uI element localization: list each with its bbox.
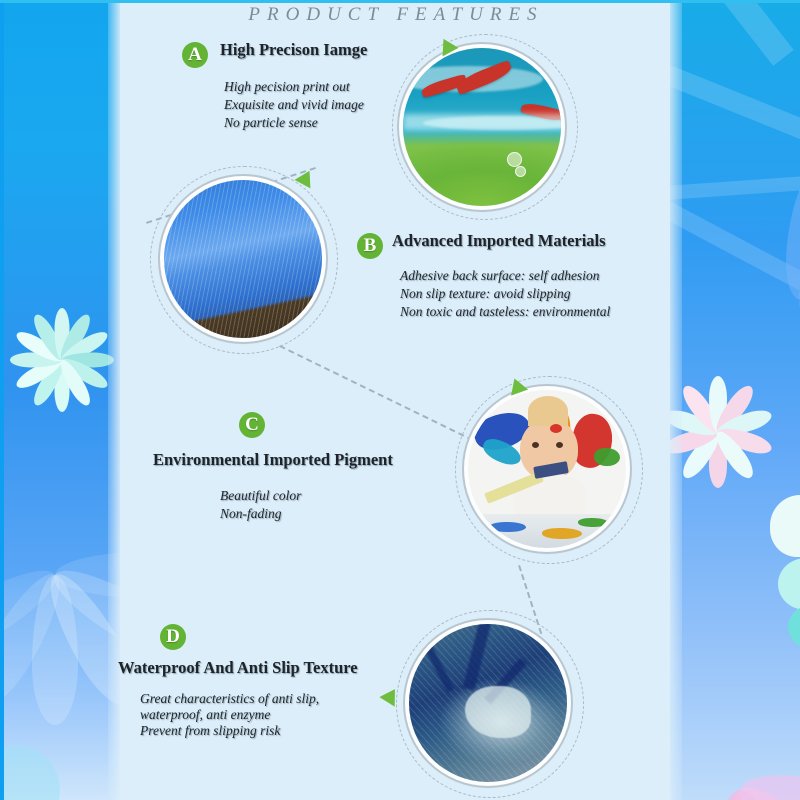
waterline bbox=[403, 114, 561, 130]
feature-badge-a: A bbox=[182, 42, 208, 68]
feature-heading-b: Advanced Imported Materials bbox=[392, 231, 606, 251]
water-droplet bbox=[465, 686, 531, 738]
right-pod-3 bbox=[788, 605, 800, 649]
feature-line-c-2: Non-fading bbox=[220, 505, 282, 522]
right-pod-2 bbox=[778, 558, 800, 610]
feature-heading-d: Waterproof And Anti Slip Texture bbox=[118, 658, 358, 678]
left-blob-circle bbox=[0, 745, 60, 800]
feature-badge-b: B bbox=[357, 233, 383, 259]
feature-badge-d: D bbox=[160, 624, 186, 650]
feature-line-a-3: No particle sense bbox=[224, 114, 318, 131]
feature-badge-c: C bbox=[239, 412, 265, 438]
feature-line-c-1: Beautiful color bbox=[220, 487, 301, 504]
floor-paint-1 bbox=[490, 522, 526, 532]
connector-b-c bbox=[279, 345, 473, 441]
blue-fabric-texture-photo bbox=[164, 180, 322, 338]
left-decorative-border bbox=[0, 0, 120, 800]
right-band-2 bbox=[670, 46, 800, 154]
texture-streak-1 bbox=[463, 624, 492, 690]
feature-line-b-3: Non toxic and tasteless: environmental bbox=[400, 303, 610, 320]
baby-eye-left bbox=[532, 442, 539, 448]
feature-line-a-2: Exquisite and vivid image bbox=[224, 96, 364, 113]
product-features-infographic: PRODUCT FEATURES A High Precison Iamge H… bbox=[0, 0, 800, 800]
feature-heading-c: Environmental Imported Pigment bbox=[153, 450, 393, 470]
paint-splatter-green bbox=[594, 448, 620, 466]
koi-fish-on-lily-pad-photo bbox=[403, 48, 561, 206]
baby-with-paintbrush-photo bbox=[468, 390, 626, 548]
baby-eye-right bbox=[556, 442, 563, 448]
right-decorative-border bbox=[670, 0, 800, 800]
paint-dot-forehead bbox=[550, 424, 562, 433]
feature-line-d-2: waterproof, anti enzyme bbox=[140, 706, 270, 723]
feature-line-b-1: Adhesive back surface: self adhesion bbox=[400, 267, 599, 284]
left-edge-line bbox=[0, 0, 4, 800]
feature-heading-a: High Precison Iamge bbox=[220, 40, 367, 60]
floor-paint-3 bbox=[578, 518, 608, 527]
baby-hair bbox=[528, 396, 568, 426]
right-band-1 bbox=[670, 0, 794, 66]
features-panel: PRODUCT FEATURES A High Precison Iamge H… bbox=[120, 0, 672, 800]
water-drop-2 bbox=[515, 166, 526, 177]
feature-line-d-3: Prevent from slipping risk bbox=[140, 722, 280, 739]
feature-line-b-2: Non slip texture: avoid slipping bbox=[400, 285, 570, 302]
floor-paint-2 bbox=[542, 528, 582, 539]
water-drop-1 bbox=[507, 152, 522, 167]
feature-line-a-1: High pecision print out bbox=[224, 78, 350, 95]
waterproof-textured-surface-photo bbox=[409, 624, 567, 782]
page-title: PRODUCT FEATURES bbox=[120, 4, 672, 26]
feature-line-d-1: Great characteristics of anti slip, bbox=[140, 690, 319, 707]
right-pod-1 bbox=[770, 495, 800, 557]
texture-streak-2 bbox=[419, 636, 454, 693]
